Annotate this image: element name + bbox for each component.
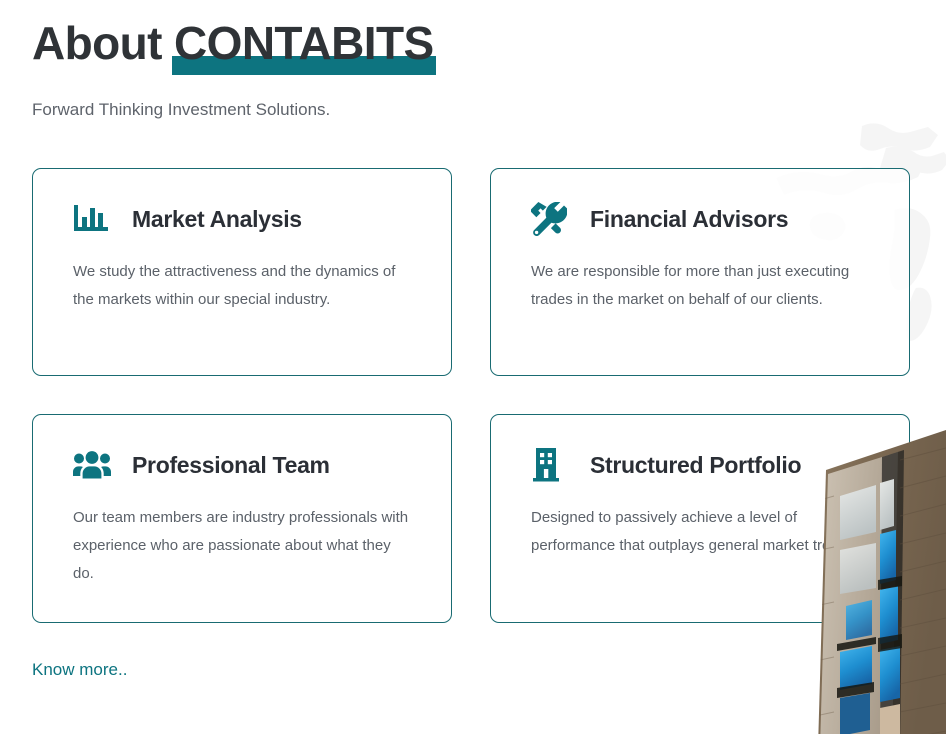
card-header: Market Analysis [73,201,411,237]
users-group-icon [73,447,113,483]
page-title: About CONTABITS [32,14,914,72]
card-header: Structured Portfolio [531,447,869,483]
feature-card-market-analysis[interactable]: Market Analysis We study the attractiven… [32,168,452,376]
page-subtitle: Forward Thinking Investment Solutions. [32,98,914,122]
feature-card-structured-portfolio[interactable]: Structured Portfolio Designed to passive… [490,414,910,623]
tools-icon [531,201,571,237]
card-title: Structured Portfolio [590,450,801,480]
card-title: Market Analysis [132,204,302,234]
card-title: Financial Advisors [590,204,788,234]
card-header: Professional Team [73,447,411,483]
card-title: Professional Team [132,450,330,480]
page-title-highlighted: CONTABITS [174,14,434,72]
chart-bar-icon [73,201,113,237]
building-icon [531,447,571,483]
feature-card-grid: Market Analysis We study the attractiven… [32,168,914,623]
about-section: About CONTABITS Forward Thinking Investm… [0,14,946,681]
know-more-link[interactable]: Know more.. [32,659,127,681]
feature-card-financial-advisors[interactable]: Financial Advisors We are responsible fo… [490,168,910,376]
card-description: Our team members are industry profession… [73,504,411,588]
page-title-plain: About [32,17,174,69]
card-header: Financial Advisors [531,201,869,237]
card-description: Designed to passively achieve a level of… [531,504,869,560]
card-description: We are responsible for more than just ex… [531,258,869,314]
card-description: We study the attractiveness and the dyna… [73,258,411,314]
feature-card-professional-team[interactable]: Professional Team Our team members are i… [32,414,452,623]
